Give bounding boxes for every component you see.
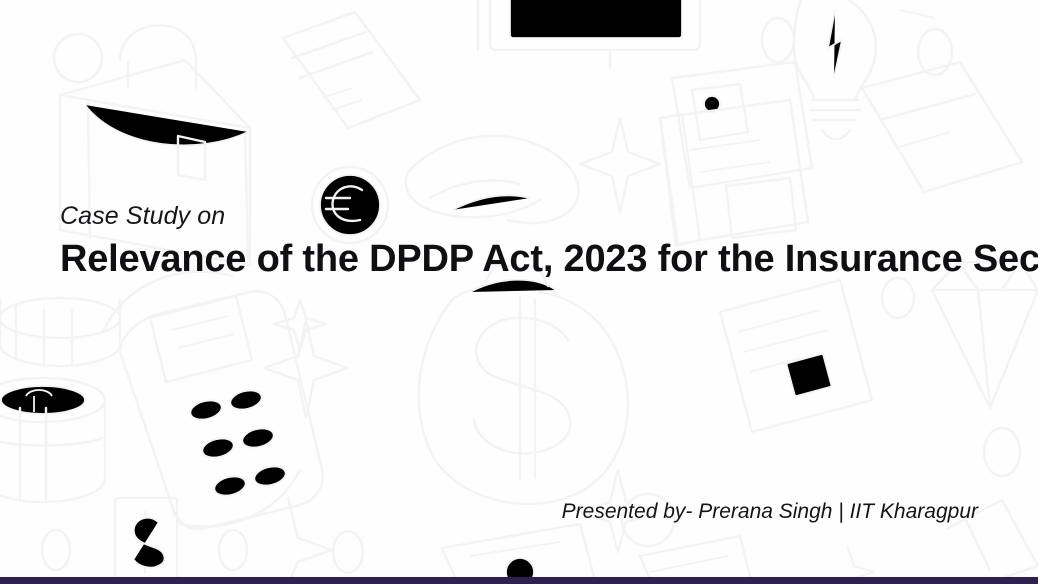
- presenter-credit: Presented by- Prerana Singh | IIT Kharag…: [562, 498, 978, 526]
- pos-terminal-icon: [104, 272, 323, 529]
- money-bag-icon: [419, 266, 628, 504]
- lightbulb-icon: [794, 0, 876, 139]
- presentation-title-slide: Case Study on Relevance of the DPDP Act,…: [0, 0, 1038, 584]
- sparkle-icon: [264, 320, 348, 418]
- diamond-icon: [932, 262, 1038, 408]
- eyebrow-text: Case Study on: [60, 200, 980, 232]
- doodle-background: [0, 0, 1038, 584]
- dollar-sign-icon: [474, 298, 570, 478]
- coin-stack-icon: [0, 298, 120, 366]
- bottom-accent-bar: [0, 577, 1038, 584]
- sparkle-icon: [580, 118, 660, 212]
- banknote-icon: [442, 524, 596, 584]
- page-title: Relevance of the DPDP Act, 2023 for the …: [60, 235, 980, 283]
- credit-card-icon: [283, 12, 420, 128]
- monitor-icon: [478, 0, 700, 68]
- sparkle-icon: [288, 498, 332, 584]
- banknote-icon: [115, 498, 177, 584]
- document-icon: [720, 280, 872, 432]
- coin-stack-icon: [0, 378, 105, 502]
- sparkle-icon: [274, 300, 326, 350]
- credit-card-icon: [862, 62, 1022, 192]
- title-block: Case Study on Relevance of the DPDP Act,…: [60, 200, 980, 283]
